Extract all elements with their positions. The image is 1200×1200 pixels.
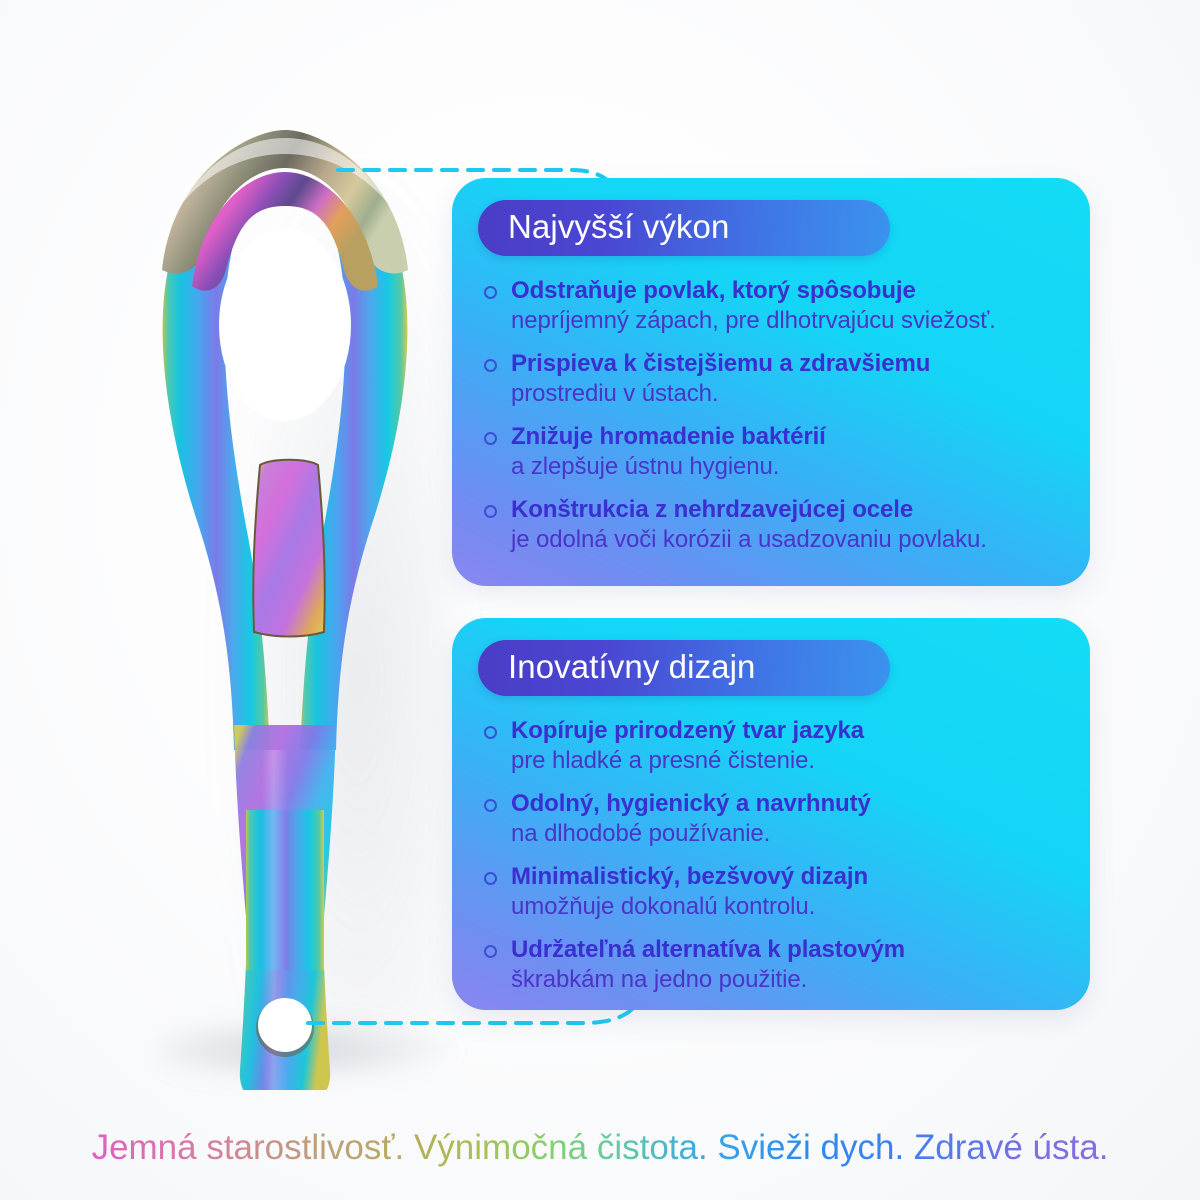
list-item: Konštrukcia z nehrdzavejúcej ocele je od…: [478, 495, 1064, 554]
card-performance: Najvyšší výkon Odstraňuje povlak, ktorý …: [452, 178, 1090, 586]
bullet-subtext: je odolná voči korózii a usadzovaniu pov…: [511, 525, 987, 555]
bullet-subtext: nepríjemný zápach, pre dlhotrvajúcu svie…: [511, 306, 996, 336]
list-item: Kopíruje prirodzený tvar jazyka pre hlad…: [478, 716, 1064, 775]
bullet-circle-icon: [484, 432, 497, 445]
product-image: [120, 110, 450, 1090]
bullet-circle-icon: [484, 726, 497, 739]
bullet-subtext: umožňuje dokonalú kontrolu.: [511, 892, 868, 922]
bullet-heading: Prispieva k čistejšiemu a zdravšiemu: [511, 349, 930, 379]
bullet-circle-icon: [484, 359, 497, 372]
list-item: Odstraňuje povlak, ktorý spôsobuje neprí…: [478, 276, 1064, 335]
list-item: Prispieva k čistejšiemu a zdravšiemu pro…: [478, 349, 1064, 408]
bullet-circle-icon: [484, 286, 497, 299]
bullet-heading: Konštrukcia z nehrdzavejúcej ocele: [511, 495, 987, 525]
bullet-circle-icon: [484, 945, 497, 958]
tongue-scraper-svg: [120, 110, 450, 1090]
bullet-subtext: prostrediu v ústach.: [511, 379, 930, 409]
bullet-heading: Odstraňuje povlak, ktorý spôsobuje: [511, 276, 996, 306]
list-item: Znižuje hromadenie baktérií a zlepšuje ú…: [478, 422, 1064, 481]
bullet-subtext: a zlepšuje ústnu hygienu.: [511, 452, 826, 482]
list-item: Odolný, hygienický a navrhnutý na dlhodo…: [478, 789, 1064, 848]
list-item: Minimalistický, bezšvový dizajn umožňuje…: [478, 862, 1064, 921]
bullet-heading: Udržateľná alternatíva k plastovým: [511, 935, 905, 965]
bullet-subtext: pre hladké a presné čistenie.: [511, 746, 864, 776]
list-item: Udržateľná alternatíva k plastovým škrab…: [478, 935, 1064, 994]
bullet-heading: Znižuje hromadenie baktérií: [511, 422, 826, 452]
bullet-heading: Minimalistický, bezšvový dizajn: [511, 862, 868, 892]
tagline-text: Jemná starostlivosť. Výnimočná čistota. …: [92, 1128, 1109, 1167]
scraper-recessed-plate: [253, 460, 325, 637]
bullet-heading: Odolný, hygienický a navrhnutý: [511, 789, 871, 819]
bullet-subtext: na dlhodobé používanie.: [511, 819, 871, 849]
card-design-title: Inovatívny dizajn: [508, 649, 860, 685]
card-performance-bullet-list: Odstraňuje povlak, ktorý spôsobuje neprí…: [478, 276, 1064, 554]
bullet-subtext: škrabkám na jedno použitie.: [511, 965, 905, 995]
bullet-circle-icon: [484, 872, 497, 885]
card-performance-title: Najvyšší výkon: [508, 209, 860, 245]
card-design-header: Inovatívny dizajn: [478, 640, 890, 696]
card-performance-header: Najvyšší výkon: [478, 200, 890, 256]
tagline: Jemná starostlivosť. Výnimočná čistota. …: [0, 1128, 1200, 1168]
bullet-circle-icon: [484, 505, 497, 518]
bullet-heading: Kopíruje prirodzený tvar jazyka: [511, 716, 864, 746]
scraper-loop-opening: [219, 229, 351, 421]
card-design: Inovatívny dizajn Kopíruje prirodzený tv…: [452, 618, 1090, 1010]
card-design-bullet-list: Kopíruje prirodzený tvar jazyka pre hlad…: [478, 716, 1064, 994]
bullet-circle-icon: [484, 799, 497, 812]
